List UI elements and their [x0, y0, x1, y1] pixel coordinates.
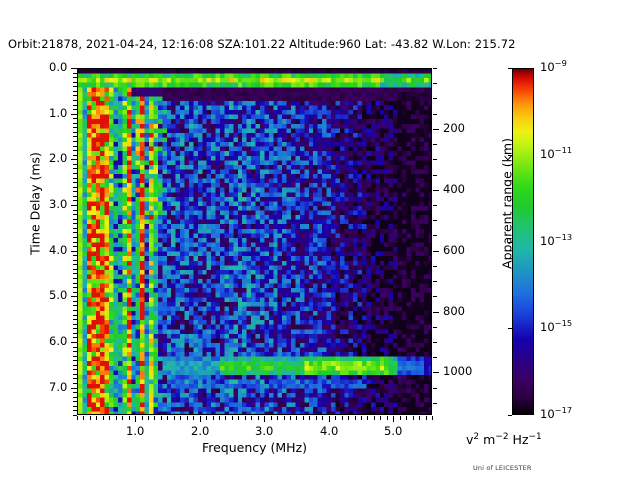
y-minor-tick	[73, 383, 77, 384]
y-minor-tick	[73, 127, 77, 128]
y-minor-tick	[73, 237, 77, 238]
y-minor-tick	[73, 287, 77, 288]
x-minor-tick	[219, 416, 220, 420]
y-minor-tick	[73, 333, 77, 334]
y-tick-label-3.0: 3.0	[49, 197, 67, 211]
y-minor-tick	[73, 223, 77, 224]
y-minor-tick	[73, 397, 77, 398]
y-minor-tick	[73, 356, 77, 357]
y-minor-tick	[73, 182, 77, 183]
x-tick-label-2.0: 2.0	[191, 424, 209, 438]
x-minor-tick	[419, 416, 420, 420]
colorbar-tick-label: 10−13	[540, 234, 572, 248]
x-minor-tick	[406, 416, 407, 420]
y-minor-tick	[73, 319, 77, 320]
x-minor-tick	[90, 416, 91, 420]
x-major-tick	[329, 416, 330, 422]
y-minor-tick	[73, 401, 77, 402]
y-right-minor-tick	[433, 114, 437, 115]
x-minor-tick	[400, 416, 401, 420]
x-minor-tick	[77, 416, 78, 420]
y-right-minor-tick	[433, 220, 437, 221]
x-minor-tick	[96, 416, 97, 420]
y-minor-tick	[73, 315, 77, 316]
y-minor-tick	[73, 347, 77, 348]
y-major-tick	[71, 296, 77, 297]
x-minor-tick	[284, 416, 285, 420]
y-minor-tick	[73, 228, 77, 229]
x-minor-tick	[251, 416, 252, 420]
y-minor-tick	[73, 91, 77, 92]
x-minor-tick	[303, 416, 304, 420]
x-minor-tick	[225, 416, 226, 420]
x-minor-tick	[245, 416, 246, 420]
x-minor-tick	[122, 416, 123, 420]
y-minor-tick	[73, 260, 77, 261]
y-minor-tick	[73, 264, 77, 265]
y-minor-tick	[73, 328, 77, 329]
x-minor-tick	[180, 416, 181, 420]
x-minor-tick	[271, 416, 272, 420]
y-minor-tick	[73, 278, 77, 279]
x-minor-tick	[238, 416, 239, 420]
x-minor-tick	[367, 416, 368, 420]
colorbar-tick-label: 10−17	[540, 407, 572, 421]
y-minor-tick	[73, 292, 77, 293]
x-minor-tick	[322, 416, 323, 420]
y-minor-tick	[73, 214, 77, 215]
y-minor-tick	[73, 246, 77, 247]
y-right-minor-tick	[433, 68, 437, 69]
y-minor-tick	[73, 242, 77, 243]
y-minor-tick	[73, 200, 77, 201]
y-major-tick	[71, 251, 77, 252]
y-right-minor-tick	[433, 388, 437, 389]
y-minor-tick	[73, 150, 77, 151]
y-minor-tick	[73, 210, 77, 211]
y-tick-label-6.0: 6.0	[49, 334, 67, 348]
x-minor-tick	[348, 416, 349, 420]
colorbar-units-label: v2 m−2 Hz−1	[466, 432, 542, 447]
x-tick-label-3.0: 3.0	[255, 424, 273, 438]
y-tick-label-1.0: 1.0	[49, 106, 67, 120]
y-minor-tick	[73, 109, 77, 110]
y-minor-tick	[73, 324, 77, 325]
x-minor-tick	[335, 416, 336, 420]
y-right-major-tick	[433, 372, 439, 373]
x-minor-tick	[83, 416, 84, 420]
y-right-minor-tick	[433, 98, 437, 99]
y-minor-tick	[73, 141, 77, 142]
y-tick-label-2.0: 2.0	[49, 151, 67, 165]
y-minor-tick	[73, 132, 77, 133]
y-minor-tick	[73, 305, 77, 306]
y-right-minor-tick	[433, 159, 437, 160]
y-tick-label-0.0: 0.0	[49, 60, 67, 74]
x-minor-tick	[277, 416, 278, 420]
x-minor-tick	[187, 416, 188, 420]
y-minor-tick	[73, 173, 77, 174]
x-minor-tick	[413, 416, 414, 420]
x-minor-tick	[342, 416, 343, 420]
x-minor-tick	[129, 416, 130, 420]
y-right-minor-tick	[433, 205, 437, 206]
y-minor-tick	[73, 392, 77, 393]
y-minor-tick	[73, 82, 77, 83]
y-minor-tick	[73, 232, 77, 233]
x-minor-tick	[142, 416, 143, 420]
x-minor-tick	[232, 416, 233, 420]
y-major-tick	[71, 388, 77, 389]
plot-title: Orbit:21878, 2021-04-24, 12:16:08 SZA:10…	[8, 37, 516, 51]
y-right-major-tick	[433, 129, 439, 130]
y-minor-tick	[73, 365, 77, 366]
y-minor-tick	[73, 191, 77, 192]
x-minor-tick	[380, 416, 381, 420]
x-minor-tick	[109, 416, 110, 420]
y-right-major-tick	[433, 312, 439, 313]
x-minor-tick	[426, 416, 427, 420]
colorbar-tick-label: 10−15	[540, 320, 572, 334]
y-minor-tick	[73, 196, 77, 197]
x-minor-tick	[387, 416, 388, 420]
y-right-minor-tick	[433, 266, 437, 267]
colorbar-tick	[508, 415, 512, 416]
x-minor-tick	[374, 416, 375, 420]
y-minor-tick	[73, 269, 77, 270]
x-minor-tick	[161, 416, 162, 420]
y-minor-tick	[73, 301, 77, 302]
y-right-minor-tick	[433, 235, 437, 236]
x-axis-title: Frequency (MHz)	[77, 440, 432, 455]
y-minor-tick	[73, 100, 77, 101]
y-right-minor-tick	[433, 175, 437, 176]
y-right-minor-tick	[433, 281, 437, 282]
y-minor-tick	[73, 369, 77, 370]
y-minor-tick	[73, 360, 77, 361]
y-minor-tick	[73, 410, 77, 411]
colorbar-gradient	[513, 69, 534, 415]
ionogram-heatmap	[78, 69, 432, 415]
y-major-tick	[71, 159, 77, 160]
y-major-tick	[71, 114, 77, 115]
x-minor-tick	[296, 416, 297, 420]
y-minor-tick	[73, 118, 77, 119]
colorbar-tick	[508, 68, 512, 69]
x-minor-tick	[361, 416, 362, 420]
credit-text: Uni of LEICESTER	[473, 464, 532, 472]
y-right-minor-tick	[433, 403, 437, 404]
y-minor-tick	[73, 178, 77, 179]
x-major-tick	[200, 416, 201, 422]
y-minor-tick	[73, 351, 77, 352]
x-minor-tick	[193, 416, 194, 420]
y-minor-tick	[73, 374, 77, 375]
y-minor-tick	[73, 378, 77, 379]
y-right-minor-tick	[433, 296, 437, 297]
y-minor-tick	[73, 164, 77, 165]
x-tick-label-4.0: 4.0	[320, 424, 338, 438]
x-minor-tick	[213, 416, 214, 420]
y-right-major-tick	[433, 190, 439, 191]
ionogram-axes[interactable]	[77, 68, 432, 415]
x-minor-tick	[103, 416, 104, 420]
x-minor-tick	[432, 416, 433, 420]
y-minor-tick	[73, 155, 77, 156]
y-tick-label-4.0: 4.0	[49, 243, 67, 257]
x-minor-tick	[258, 416, 259, 420]
x-minor-tick	[174, 416, 175, 420]
x-minor-tick	[355, 416, 356, 420]
y-major-tick	[71, 205, 77, 206]
x-minor-tick	[148, 416, 149, 420]
y-right-minor-tick	[433, 83, 437, 84]
y-minor-tick	[73, 219, 77, 220]
y-right-minor-tick	[433, 342, 437, 343]
colorbar[interactable]	[512, 68, 534, 415]
figure-canvas: Orbit:21878, 2021-04-24, 12:16:08 SZA:10…	[0, 0, 640, 480]
x-major-tick	[135, 416, 136, 422]
x-minor-tick	[116, 416, 117, 420]
x-major-tick	[393, 416, 394, 422]
y-minor-tick	[73, 168, 77, 169]
y-minor-tick	[73, 255, 77, 256]
x-minor-tick	[167, 416, 168, 420]
y-minor-tick	[73, 123, 77, 124]
colorbar-tick-label: 10−9	[540, 60, 567, 74]
x-major-tick	[264, 416, 265, 422]
y-minor-tick	[73, 86, 77, 87]
x-tick-label-1.0: 1.0	[126, 424, 144, 438]
y-minor-tick	[73, 273, 77, 274]
x-minor-tick	[316, 416, 317, 420]
y-right-minor-tick	[433, 357, 437, 358]
y-tick-label-7.0: 7.0	[49, 380, 67, 394]
y-major-tick	[71, 342, 77, 343]
y-minor-tick	[73, 337, 77, 338]
y-minor-tick	[73, 283, 77, 284]
y-right-tick-label-800: 800	[443, 304, 465, 318]
x-minor-tick	[206, 416, 207, 420]
y-minor-tick	[73, 146, 77, 147]
y-right-minor-tick	[433, 144, 437, 145]
y-minor-tick	[73, 136, 77, 137]
y-minor-tick	[73, 105, 77, 106]
x-minor-tick	[309, 416, 310, 420]
colorbar-tick	[508, 328, 512, 329]
x-minor-tick	[290, 416, 291, 420]
y-right-tick-label-600: 600	[443, 243, 465, 257]
y-minor-tick	[73, 406, 77, 407]
y-tick-label-5.0: 5.0	[49, 288, 67, 302]
x-minor-tick	[154, 416, 155, 420]
y-axis-title-left: Time Delay (ms)	[28, 124, 43, 284]
y-minor-tick	[73, 310, 77, 311]
y-minor-tick	[73, 415, 77, 416]
y-right-tick-label-400: 400	[443, 182, 465, 196]
y-minor-tick	[73, 187, 77, 188]
y-minor-tick	[73, 73, 77, 74]
y-minor-tick	[73, 95, 77, 96]
colorbar-tick-label: 10−11	[540, 147, 572, 161]
y-right-major-tick	[433, 251, 439, 252]
y-right-tick-label-1000: 1000	[443, 364, 472, 378]
y-right-tick-label-200: 200	[443, 121, 465, 135]
y-minor-tick	[73, 77, 77, 78]
x-tick-label-5.0: 5.0	[384, 424, 402, 438]
y-major-tick	[71, 68, 77, 69]
y-right-minor-tick	[433, 327, 437, 328]
